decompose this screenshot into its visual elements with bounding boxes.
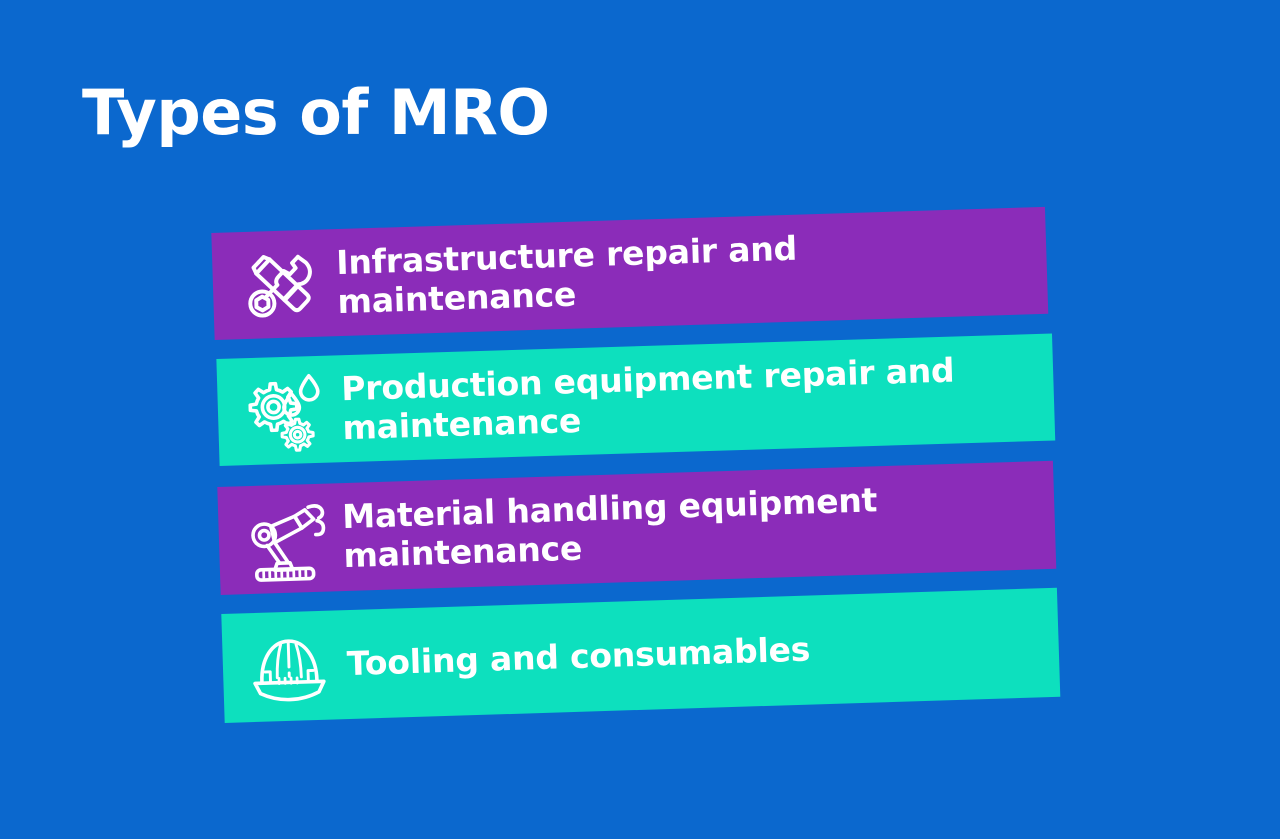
mro-type-label-4: Tooling and consumables	[346, 623, 1059, 684]
wrench-screwdriver-icon	[229, 235, 328, 334]
mro-type-label-3: Material handling equipment maintenance	[342, 476, 1056, 576]
robotic-arm-icon	[235, 489, 334, 588]
mro-type-row-1[interactable]: Infrastructure repair and maintenance	[211, 207, 1048, 340]
mro-type-row-3[interactable]: Material handling equipment maintenance	[217, 461, 1056, 595]
page-title: Types of MRO	[82, 80, 550, 145]
mro-type-label-2: Production equipment repair and maintena…	[341, 348, 1055, 448]
hard-hat-icon	[239, 617, 338, 716]
mro-type-label-1: Infrastructure repair and maintenance	[336, 221, 1048, 321]
infographic-slide: Types of MRO Infrastructure repair and m…	[0, 0, 1280, 839]
mro-type-row-4[interactable]: Tooling and consumables	[221, 588, 1060, 723]
gears-oil-drops-icon	[235, 361, 334, 460]
mro-type-row-2[interactable]: Production equipment repair and maintena…	[216, 333, 1055, 465]
